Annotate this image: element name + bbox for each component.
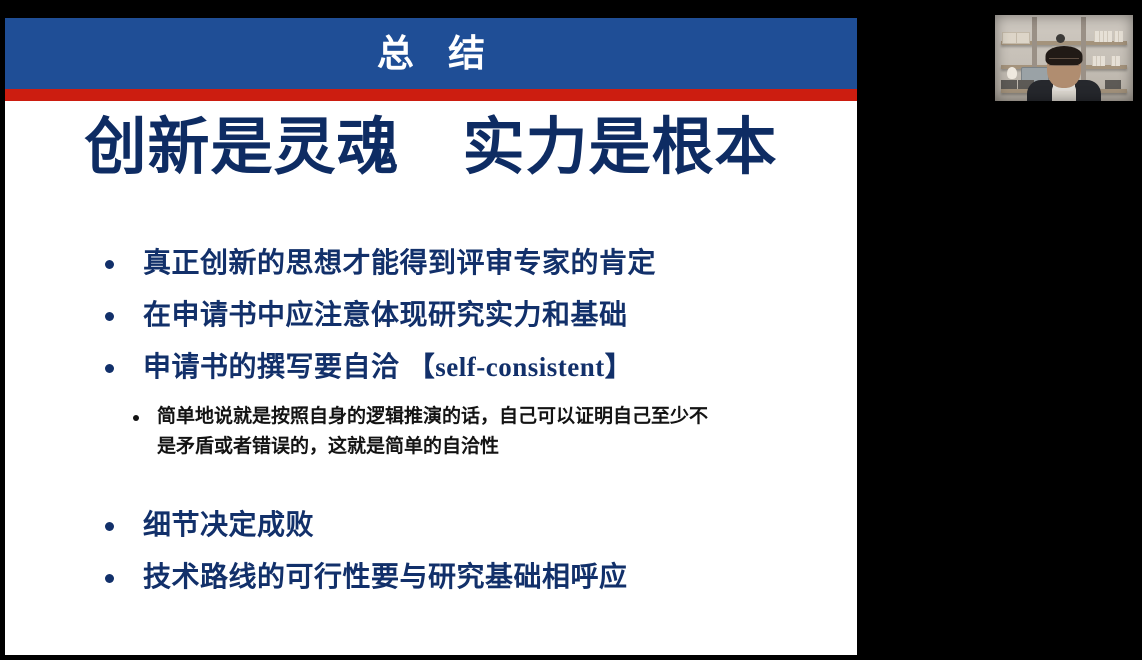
sub-bullet-item-1: 简单地说就是按照自身的逻辑推演的话，自己可以证明自己至少不是矛盾或者错误的，这就…	[5, 402, 857, 461]
bullet-group-spacer	[5, 461, 857, 507]
video-scene	[995, 15, 1133, 101]
bullet-item-3-cjk: 申请书的撰写要自洽	[143, 351, 400, 382]
slide-body: 创新是灵魂 实力是根本 真正创新的思想才能得到评审专家的肯定 在申请书中应注意体…	[5, 101, 857, 655]
bullet-dot-icon	[105, 522, 114, 531]
bullet-dot-icon	[105, 364, 114, 373]
bullet-item-3: 申请书的撰写要自洽 【self-consistent】	[5, 349, 857, 385]
bullet-item-5: 技术路线的可行性要与研究基础相呼应	[5, 559, 857, 595]
slide-header-band: 总 结	[5, 18, 857, 89]
sub-bullet-dot-icon	[133, 415, 139, 421]
sub-bullet-item-1-label: 简单地说就是按照自身的逻辑推演的话，自己可以证明自己至少不是矛盾或者错误的，这就…	[157, 402, 717, 461]
bullet-item-1: 真正创新的思想才能得到评审专家的肯定	[5, 245, 857, 281]
slide-accent-bar	[5, 89, 857, 101]
bullet-item-5-label: 技术路线的可行性要与研究基础相呼应	[143, 559, 628, 595]
bullet-item-3-label: 申请书的撰写要自洽 【self-consistent】	[143, 349, 632, 385]
bullet-dot-icon	[105, 260, 114, 269]
bullet-item-2-label: 在申请书中应注意体现研究实力和基础	[143, 297, 628, 333]
slide-header-title: 总 结	[365, 35, 497, 72]
presenter-video-thumbnail[interactable]	[995, 15, 1133, 101]
bullet-item-4: 细节决定成败	[5, 507, 857, 543]
bullet-item-4-label: 细节决定成败	[143, 507, 314, 543]
bullet-dot-icon	[105, 574, 114, 583]
bullet-item-1-label: 真正创新的思想才能得到评审专家的肯定	[143, 245, 656, 281]
presentation-slide: 总 结 创新是灵魂 实力是根本 真正创新的思想才能得到评审专家的肯定 在申请书中…	[5, 18, 857, 655]
slide-bullet-list: 真正创新的思想才能得到评审专家的肯定 在申请书中应注意体现研究实力和基础 申请书…	[5, 245, 857, 611]
bullet-item-2: 在申请书中应注意体现研究实力和基础	[5, 297, 857, 333]
screen-root: 总 结 创新是灵魂 实力是根本 真正创新的思想才能得到评审专家的肯定 在申请书中…	[0, 0, 1142, 660]
slide-main-heading: 创新是灵魂 实力是根本	[5, 115, 857, 180]
bullet-dot-icon	[105, 312, 114, 321]
video-vignette	[995, 15, 1133, 101]
bullet-item-3-latin: 【self-consistent】	[408, 352, 632, 382]
